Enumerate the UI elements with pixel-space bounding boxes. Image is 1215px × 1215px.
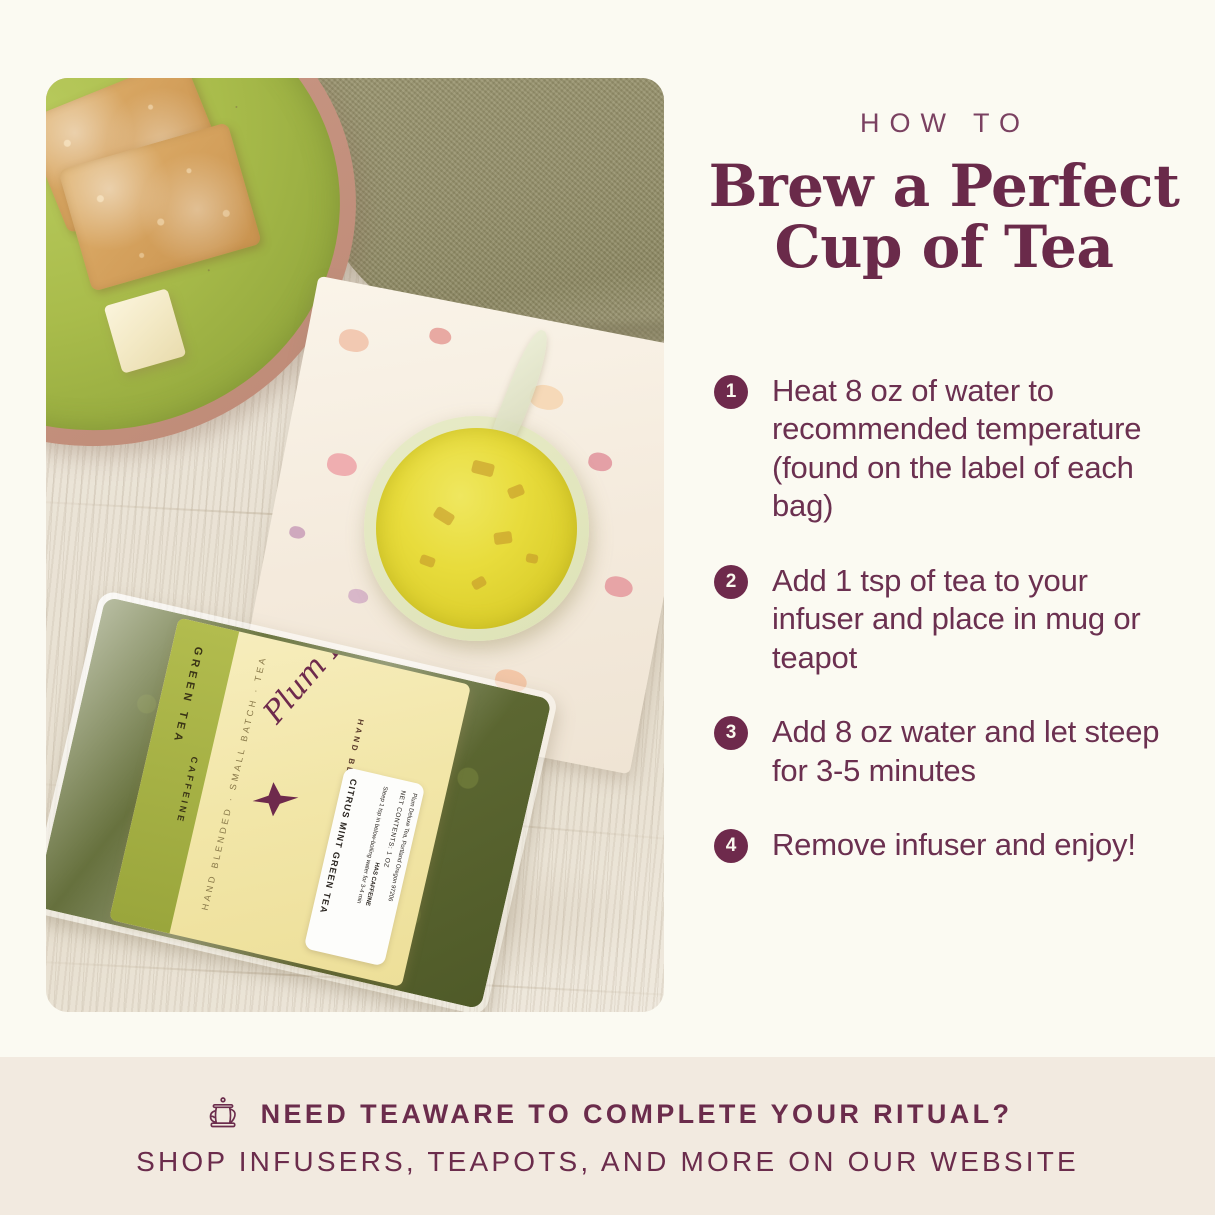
steps-list: 1 Heat 8 oz of water to recommended temp… — [714, 372, 1184, 864]
page-title: Brew a Perfect Cup of Tea — [694, 156, 1194, 279]
cta-banner[interactable]: NEED TEAWARE TO COMPLETE YOUR RITUAL? SH… — [0, 1057, 1215, 1215]
package-info-label: CITRUS MINT GREEN TEA Chinese Green Tea,… — [304, 767, 426, 967]
step-text: Remove infuser and enjoy! — [772, 826, 1136, 864]
infographic-page: GREEN TEA CAFFEINE HAND BLENDED · SMALL … — [0, 0, 1215, 1215]
hero-photo: GREEN TEA CAFFEINE HAND BLENDED · SMALL … — [46, 78, 664, 1012]
page-title-line-1: Brew a Perfect — [694, 156, 1194, 217]
eyebrow-label: HOW TO — [700, 108, 1190, 139]
list-item: 1 Heat 8 oz of water to recommended temp… — [714, 372, 1184, 526]
step-number-badge: 2 — [714, 565, 748, 599]
page-title-line-2: Cup of Tea — [694, 217, 1194, 278]
step-text: Heat 8 oz of water to recommended temper… — [772, 372, 1184, 526]
photo-scene: GREEN TEA CAFFEINE HAND BLENDED · SMALL … — [46, 78, 664, 1012]
teapot-icon — [203, 1094, 243, 1134]
content-column: HOW TO Brew a Perfect Cup of Tea 1 Heat … — [700, 0, 1190, 1057]
step-number-badge: 1 — [714, 375, 748, 409]
glass-tea-cup — [364, 416, 589, 641]
tea-liquid — [376, 428, 577, 629]
cta-banner-top-row: NEED TEAWARE TO COMPLETE YOUR RITUAL? — [203, 1094, 1013, 1134]
step-number-badge: 4 — [714, 829, 748, 863]
list-item: 2 Add 1 tsp of tea to your infuser and p… — [714, 562, 1184, 677]
list-item: 3 Add 8 oz water and let steep for 3-5 m… — [714, 713, 1184, 790]
hummingbird-logo-icon — [251, 779, 301, 818]
cta-line-2: SHOP INFUSERS, TEAPOTS, AND MORE ON OUR … — [136, 1146, 1079, 1178]
step-number-badge: 3 — [714, 716, 748, 750]
step-text: Add 8 oz water and let steep for 3-5 min… — [772, 713, 1184, 790]
cta-line-1: NEED TEAWARE TO COMPLETE YOUR RITUAL? — [261, 1099, 1013, 1130]
step-text: Add 1 tsp of tea to your infuser and pla… — [772, 562, 1184, 677]
list-item: 4 Remove infuser and enjoy! — [714, 826, 1184, 864]
